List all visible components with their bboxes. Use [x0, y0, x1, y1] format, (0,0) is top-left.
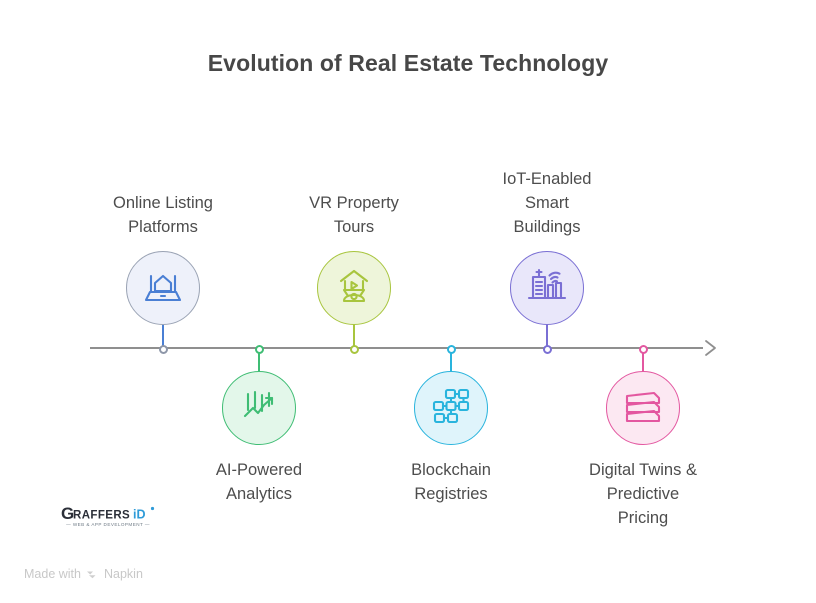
node-circle-ai-powered-analytics[interactable]	[222, 371, 296, 445]
node-circle-digital-twins-predictive-pricing[interactable]	[606, 371, 680, 445]
node-circle-iot-enabled-smart-buildings[interactable]	[510, 251, 584, 325]
node-circle-online-listing-platforms[interactable]	[126, 251, 200, 325]
node-label-online-listing-platforms: Online Listing Platforms	[78, 191, 248, 239]
timeline-dot-digital-twins-predictive-pricing[interactable]	[639, 345, 648, 354]
stacked-layers-icon	[621, 384, 665, 433]
node-circle-blockchain-registries[interactable]	[414, 371, 488, 445]
node-label-digital-twins-predictive-pricing: Digital Twins & Predictive Pricing	[558, 458, 728, 530]
svg-text:iD: iD	[133, 508, 146, 522]
vr-house-play-icon	[332, 264, 376, 313]
smart-building-wifi-icon	[525, 264, 569, 313]
napkin-chevrons-icon	[86, 568, 99, 581]
svg-text:RAFFERS: RAFFERS	[73, 510, 130, 522]
chevron-right-icon	[700, 337, 722, 359]
node-circle-vr-property-tours[interactable]	[317, 251, 391, 325]
growth-chart-icon	[237, 384, 281, 433]
node-label-iot-enabled-smart-buildings: IoT-Enabled Smart Buildings	[462, 167, 632, 239]
node-label-blockchain-registries: Blockchain Registries	[366, 458, 536, 506]
timeline-dot-ai-powered-analytics[interactable]	[255, 345, 264, 354]
graffersid-logo: G RAFFERS iD — WEB & APP DEVELOPMENT —	[60, 503, 156, 531]
timeline-axis	[90, 347, 703, 349]
block-network-icon	[429, 384, 473, 433]
napkin-brand-label: Napkin	[104, 567, 143, 581]
page-title: Evolution of Real Estate Technology	[0, 50, 816, 77]
laptop-house-icon	[141, 264, 185, 313]
timeline-dot-vr-property-tours[interactable]	[350, 345, 359, 354]
made-with-label: Made with	[24, 567, 81, 581]
node-label-ai-powered-analytics: AI-Powered Analytics	[174, 458, 344, 506]
timeline-dot-iot-enabled-smart-buildings[interactable]	[543, 345, 552, 354]
made-with-napkin-footer: Made with Napkin	[24, 567, 143, 581]
timeline-dot-blockchain-registries[interactable]	[447, 345, 456, 354]
node-label-vr-property-tours: VR Property Tours	[269, 191, 439, 239]
graffersid-wordmark: G RAFFERS iD	[60, 503, 156, 523]
timeline-dot-online-listing-platforms[interactable]	[159, 345, 168, 354]
infographic-canvas: Evolution of Real Estate Technology Onli…	[0, 0, 816, 603]
logo-tagline: — WEB & APP DEVELOPMENT —	[60, 522, 156, 527]
